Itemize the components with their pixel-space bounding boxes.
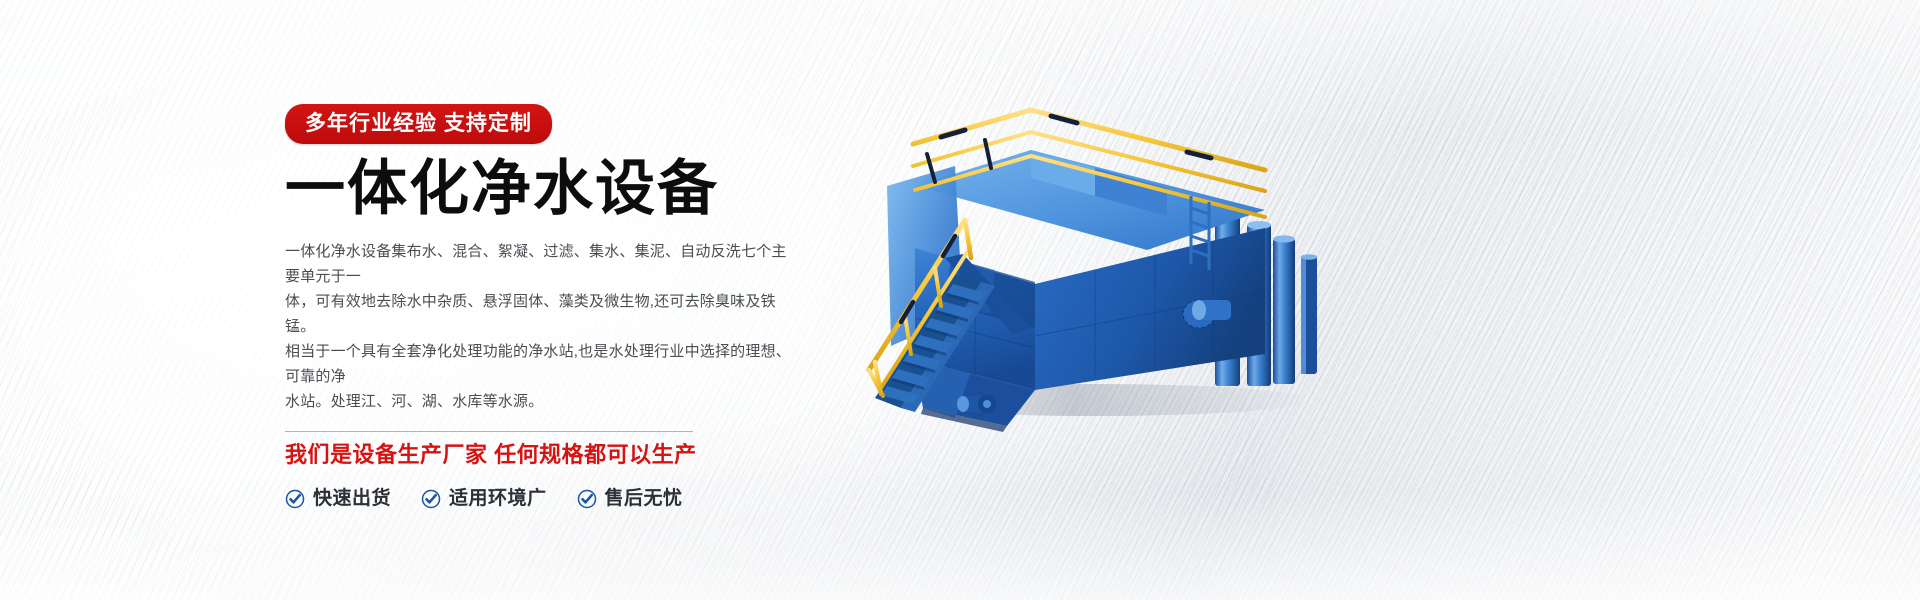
page-title: 一体化净水设备 [285,158,845,220]
description-line-2: 体，可有效地去除水中杂质、悬浮固体、藻类及微生物,还可去除臭味及铁锰。 [285,289,797,339]
hero-banner: 多年行业经验 支持定制 一体化净水设备 一体化净水设备集布水、混合、絮凝、过滤、… [0,0,1920,600]
check-circle-icon [421,489,441,509]
feature-item-fast-shipping: 快速出货 [285,489,391,509]
pipe-far-right [1301,254,1317,374]
check-circle-icon [577,489,597,509]
banner-content: 多年行业经验 支持定制 一体化净水设备 一体化净水设备集布水、混合、絮凝、过滤、… [285,104,845,509]
feature-label: 售后无忧 [605,489,683,508]
stub-pipe [1192,300,1231,320]
product-description: 一体化净水设备集布水、混合、絮凝、过滤、集水、集泥、自动反洗七个主要单元于一 体… [285,239,797,414]
manufacturer-slogan: 我们是设备生产厂家 任何规格都可以生产 [285,441,693,469]
description-line-3: 相当于一个具有全套净化处理功能的净水站,也是水处理行业中选择的理想、可靠的净 [285,339,797,389]
feature-label: 快速出货 [313,489,391,508]
bottom-valve-assembly [957,395,996,413]
description-line-1: 一体化净水设备集布水、混合、絮凝、过滤、集水、集泥、自动反洗七个主要单元于一 [285,239,797,289]
check-circle-icon [285,489,305,509]
slogan-divider: 我们是设备生产厂家 任何规格都可以生产 [285,431,693,469]
experience-badge: 多年行业经验 支持定制 [285,104,552,144]
feature-label: 适用环境广 [449,489,547,508]
feature-item-after-sales: 售后无忧 [577,489,683,509]
product-image-water-treatment-unit [795,78,1355,428]
feature-list: 快速出货 适用环境广 售后无忧 [285,489,845,509]
description-line-4: 水站。处理江、河、湖、水库等水源。 [285,389,797,414]
feature-item-wide-environment: 适用环境广 [421,489,547,509]
